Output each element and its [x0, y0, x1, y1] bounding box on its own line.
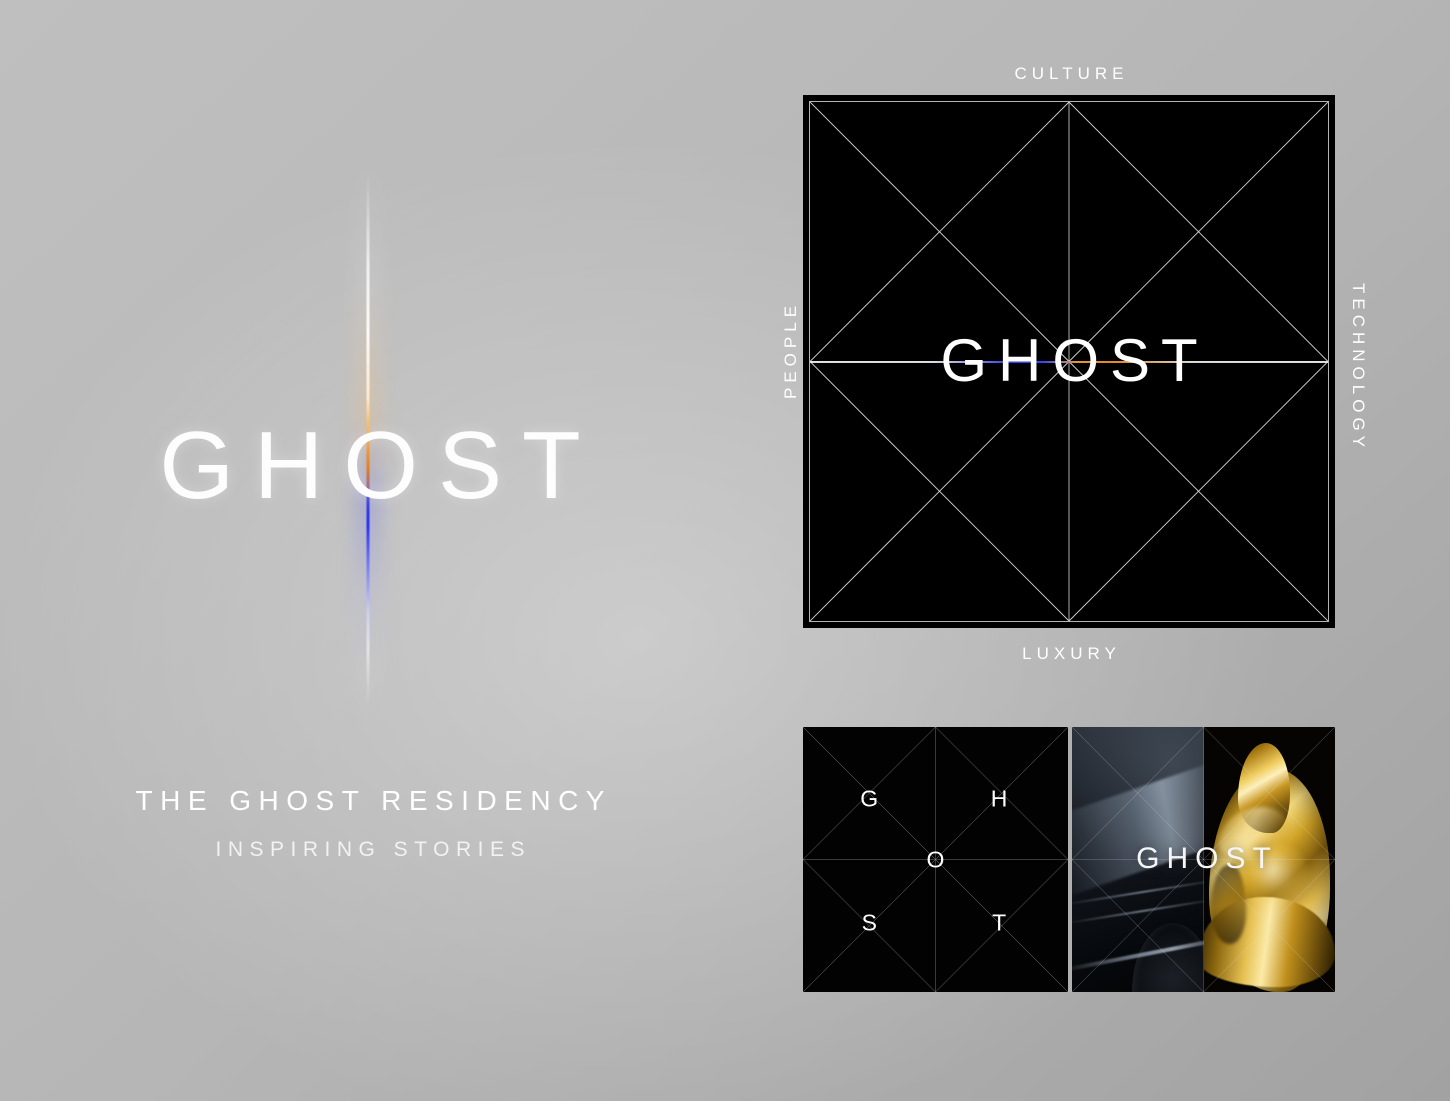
grid-letter-o: O [927, 848, 945, 871]
axis-label-technology: TECHNOLOGY [1348, 278, 1368, 452]
grid-letter-g: G [860, 787, 878, 810]
imagery-panel: GHOST [1072, 727, 1335, 992]
brand-application-triptych: G H O S T GHOST [803, 727, 1335, 992]
brand-matrix-diagram: GHOST [803, 95, 1335, 628]
axis-label-luxury: LUXURY [803, 644, 1335, 664]
hero-subtitle: INSPIRING STORIES [0, 838, 740, 862]
grid-letter-t: T [992, 912, 1006, 935]
diagram-wordmark: GHOST [810, 330, 1328, 390]
triptych-wordmark: GHOST [1072, 844, 1335, 874]
hero-title: THE GHOST RESIDENCY [0, 785, 740, 817]
letter-grid-panel: G H O S T [803, 727, 1068, 992]
axis-label-culture: CULTURE [803, 64, 1335, 84]
diagram-frame: GHOST [809, 101, 1329, 622]
hero-wordmark: GHOST [0, 418, 740, 514]
hero-lockup: GHOST THE GHOST RESIDENCY INSPIRING STOR… [0, 0, 740, 1101]
grid-letter-h: H [991, 787, 1008, 810]
axis-label-people: PEOPLE [781, 301, 801, 404]
grid-letter-s: S [862, 912, 877, 935]
